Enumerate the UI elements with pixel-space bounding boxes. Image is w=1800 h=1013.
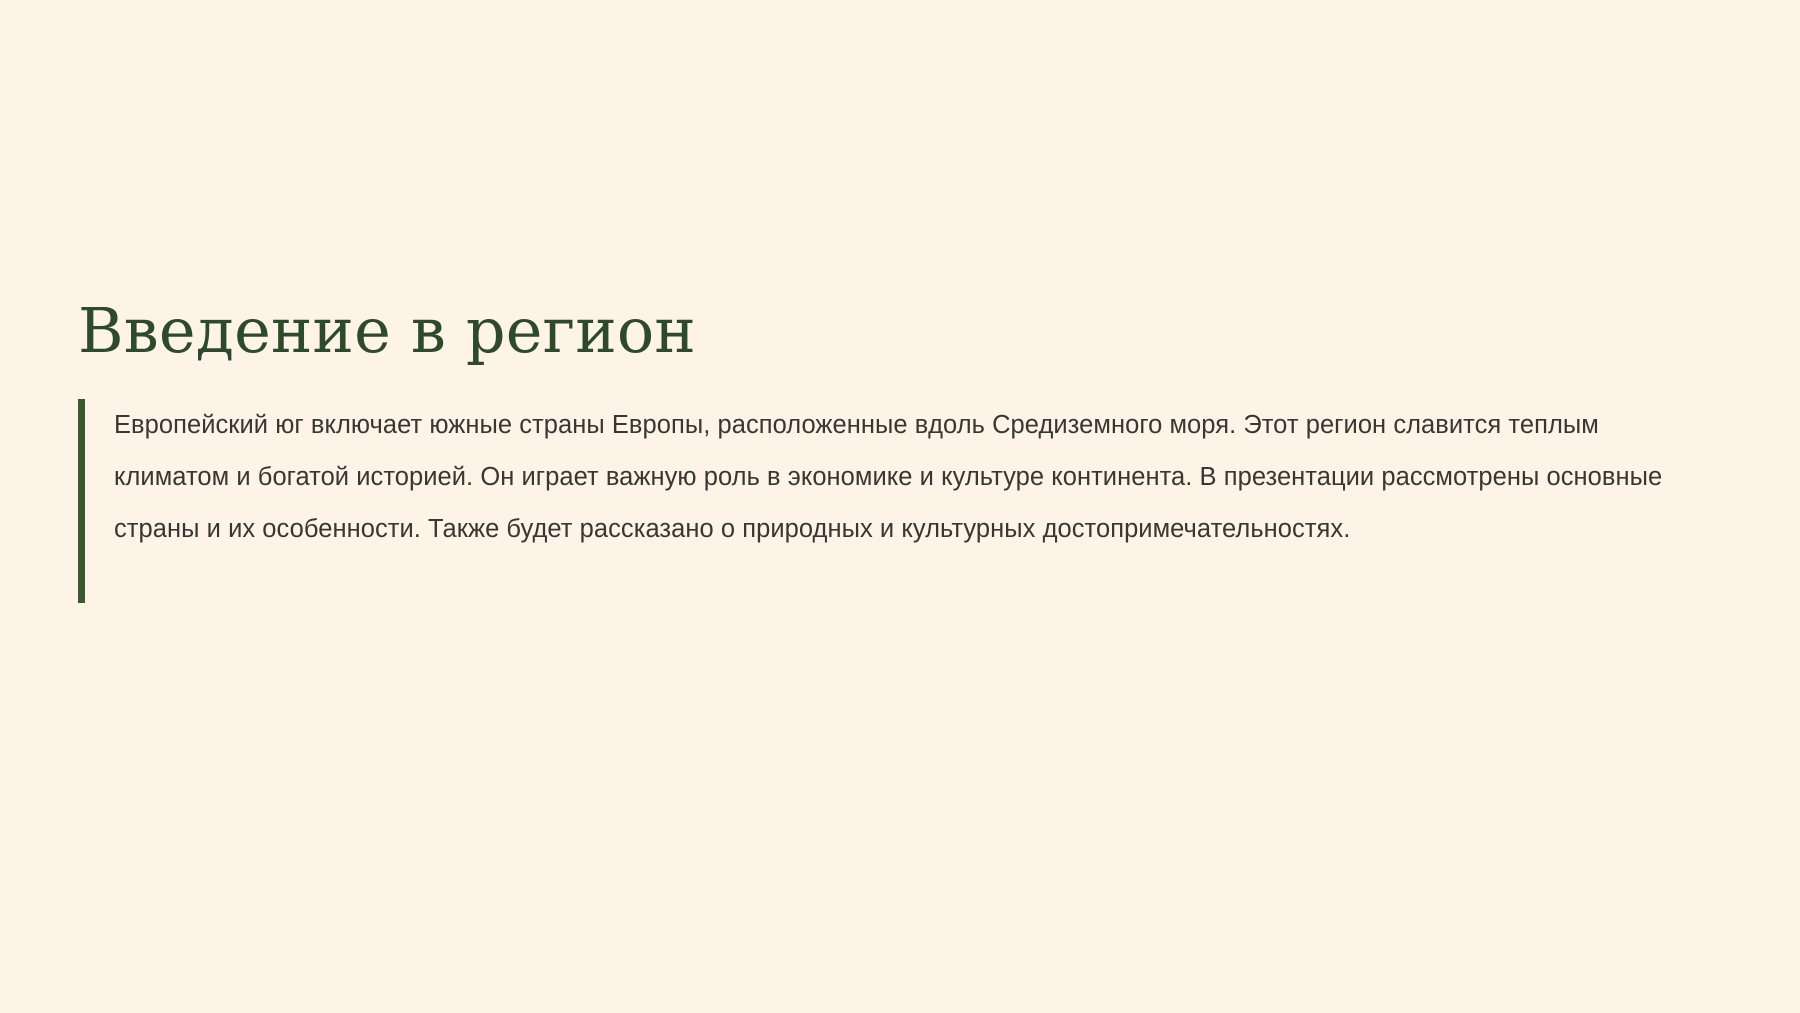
slide-content-block: Введение в регион Европейский юг включае…: [78, 296, 1738, 555]
page-title: Введение в регион: [78, 296, 1738, 365]
accent-bar: [78, 399, 85, 603]
body-quote-block: Европейский юг включает южные страны Евр…: [78, 399, 1738, 555]
slide-canvas: Введение в регион Европейский юг включае…: [0, 0, 1800, 1013]
body-paragraph: Европейский юг включает южные страны Евр…: [114, 399, 1716, 555]
